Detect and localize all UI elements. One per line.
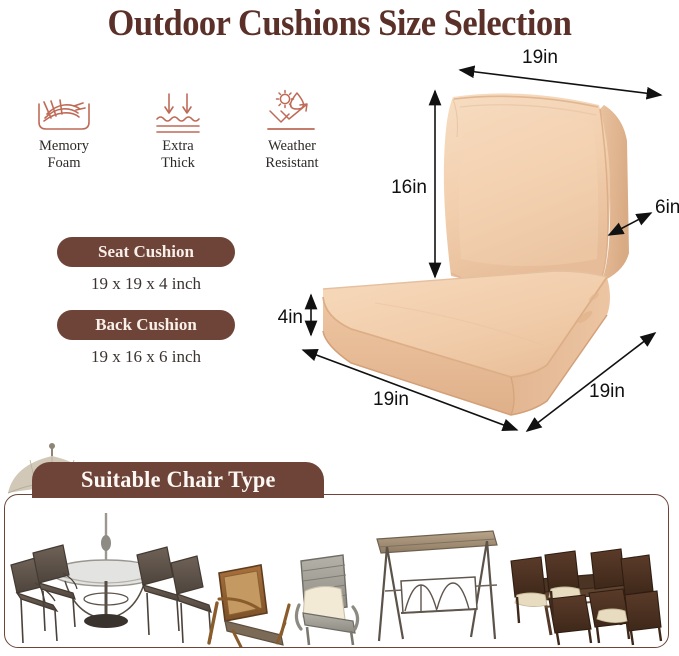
feature-label-line2: Thick [134,155,222,172]
dimension-back-height-label: 16in [391,177,427,198]
seat-cushion-illustration [323,271,610,415]
feature-memory-foam: Memory Foam [20,86,108,172]
dimension-seat-depth-label: 19in [589,381,625,402]
dimension-back-width [460,70,661,95]
dimension-back-thickness-label: 6in [655,197,679,218]
page-title: Outdoor Cushions Size Selection [24,2,655,45]
banner-title: Suitable Chair Type [81,467,276,493]
feature-label-line1: Extra [134,138,222,155]
feature-label-line1: Memory [20,138,108,155]
suitable-chair-type-banner: Suitable Chair Type [32,462,324,498]
gallery-item-wooden-lounge-chair [209,565,289,647]
chair-gallery-images [5,495,668,647]
dimension-seat-width-label: 19in [373,389,409,410]
feature-extra-thick: Extra Thick [134,86,222,172]
memory-foam-icon [20,86,108,138]
extra-thick-icon [134,86,222,138]
gallery-item-wicker-accent-chair [296,555,357,645]
chair-gallery-panel [4,494,669,648]
back-cushion-size: 19 x 16 x 6 inch [36,347,256,367]
gallery-item-patio-dining-set [11,513,211,643]
seat-cushion-size: 19 x 19 x 4 inch [36,274,256,294]
back-cushion-illustration [444,93,629,285]
feature-label-line2: Foam [20,155,108,172]
feature-label: Memory Foam [20,138,108,172]
seat-cushion-pill: Seat Cushion [57,237,235,267]
feature-label: Extra Thick [134,138,222,172]
gallery-item-porch-swing [377,531,497,641]
cushion-spec-list: Seat Cushion 19 x 19 x 4 inch Back Cushi… [36,237,256,383]
back-cushion-pill: Back Cushion [57,310,235,340]
dimension-back-width-label: 19in [522,47,558,68]
cushion-dimension-diagram: 19in 16in 6in 4in 19in 19in [255,45,679,435]
dimension-seat-height-label: 4in [278,307,303,328]
gallery-item-brown-dining-set [511,549,661,645]
